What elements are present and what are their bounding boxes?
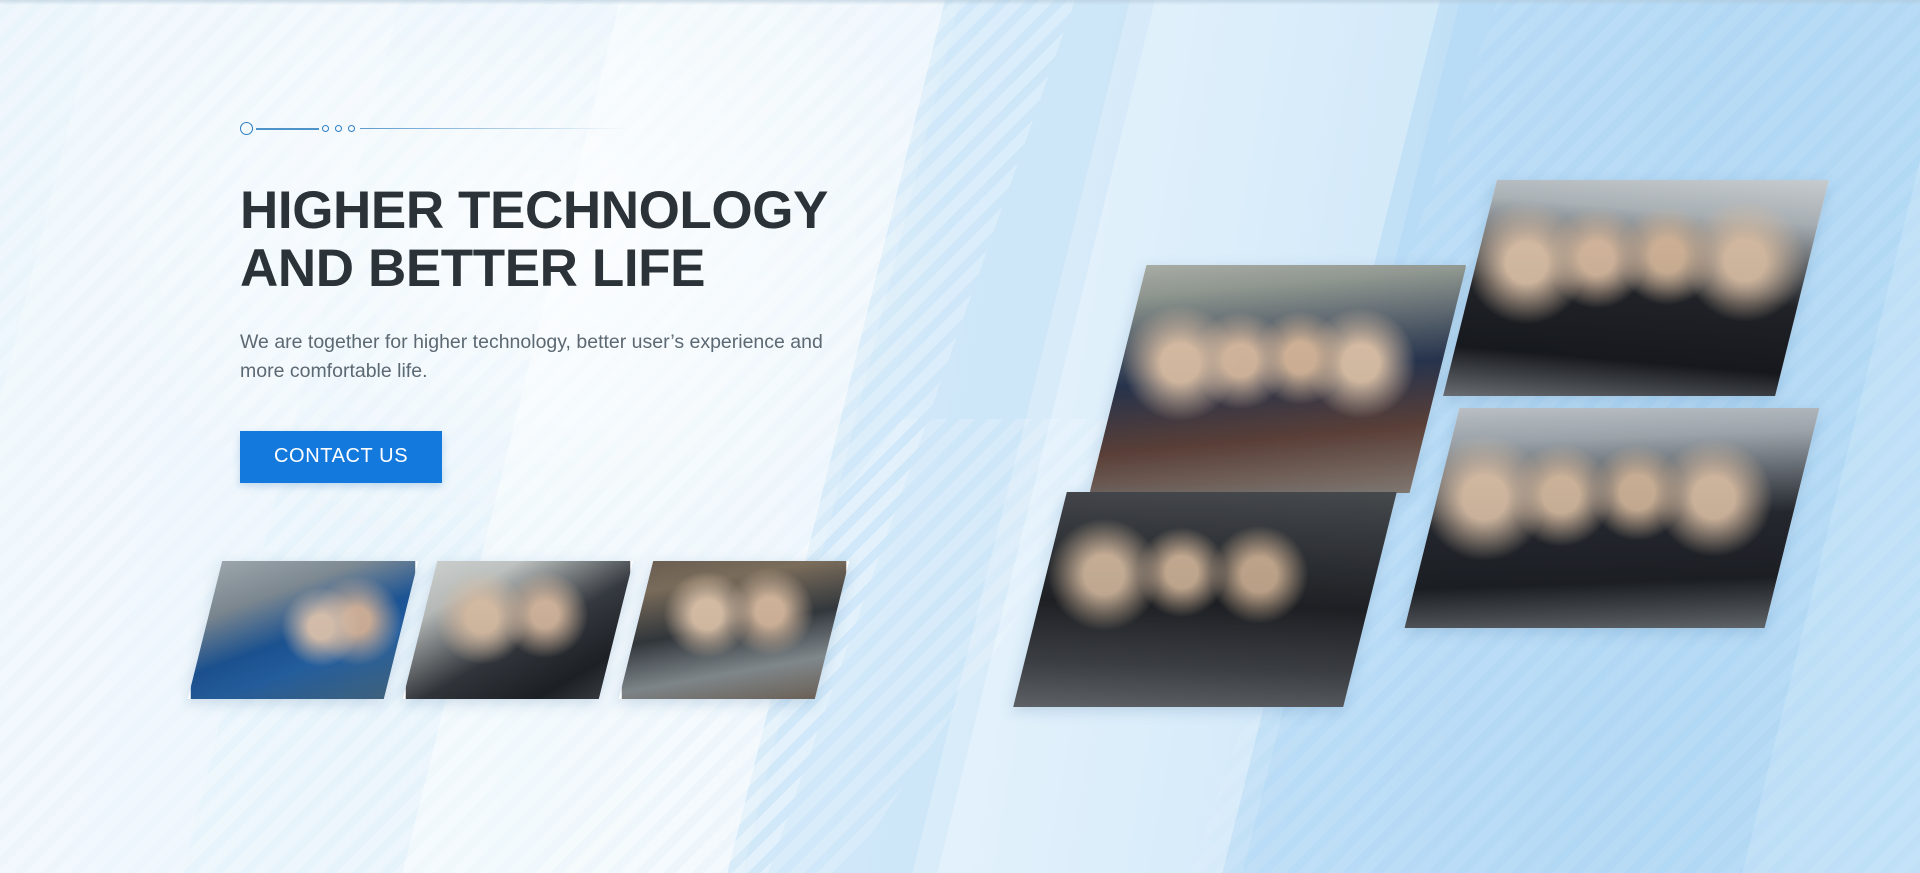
contact-us-button[interactable]: CONTACT US [240, 431, 442, 483]
page-title: HIGHER TECHNOLOGY AND BETTER LIFE [240, 182, 880, 298]
photo-image [406, 561, 630, 699]
photo-image [191, 561, 415, 699]
line-segment-icon [256, 128, 319, 130]
photo-image [1090, 265, 1466, 493]
photo-businessman-and-engineer-handshake[interactable] [403, 561, 633, 699]
photo-customer-visit-factory-blue-machine[interactable] [188, 561, 418, 699]
hero-subtitle: We are together for higher technology, b… [240, 328, 825, 387]
photo-image [622, 561, 846, 699]
hero-content: HIGHER TECHNOLOGY AND BETTER LIFE We are… [240, 118, 900, 483]
top-edge-shade [0, 0, 1920, 5]
dot-icon-1[interactable] [322, 125, 329, 132]
photo-visitors-walking-through-plant[interactable] [1013, 492, 1397, 707]
photo-four-clients-standing-in-workshop[interactable] [1405, 408, 1820, 628]
dot-icon-2[interactable] [335, 125, 342, 132]
line-segment-fade-icon [360, 128, 628, 129]
photo-clients-thumbs-up-workshop[interactable] [619, 561, 849, 699]
slider-progress-decoration[interactable] [240, 118, 630, 140]
photo-delegation-inspecting-machine[interactable] [1443, 180, 1829, 396]
photo-image [1405, 408, 1820, 628]
photo-image [1013, 492, 1397, 707]
photo-image [1443, 180, 1829, 396]
photo-team-group-six-men-production-line[interactable] [1090, 265, 1467, 493]
hero-banner: HIGHER TECHNOLOGY AND BETTER LIFE We are… [0, 0, 1920, 873]
circle-outline-icon [240, 122, 253, 135]
dot-icon-3[interactable] [348, 125, 355, 132]
